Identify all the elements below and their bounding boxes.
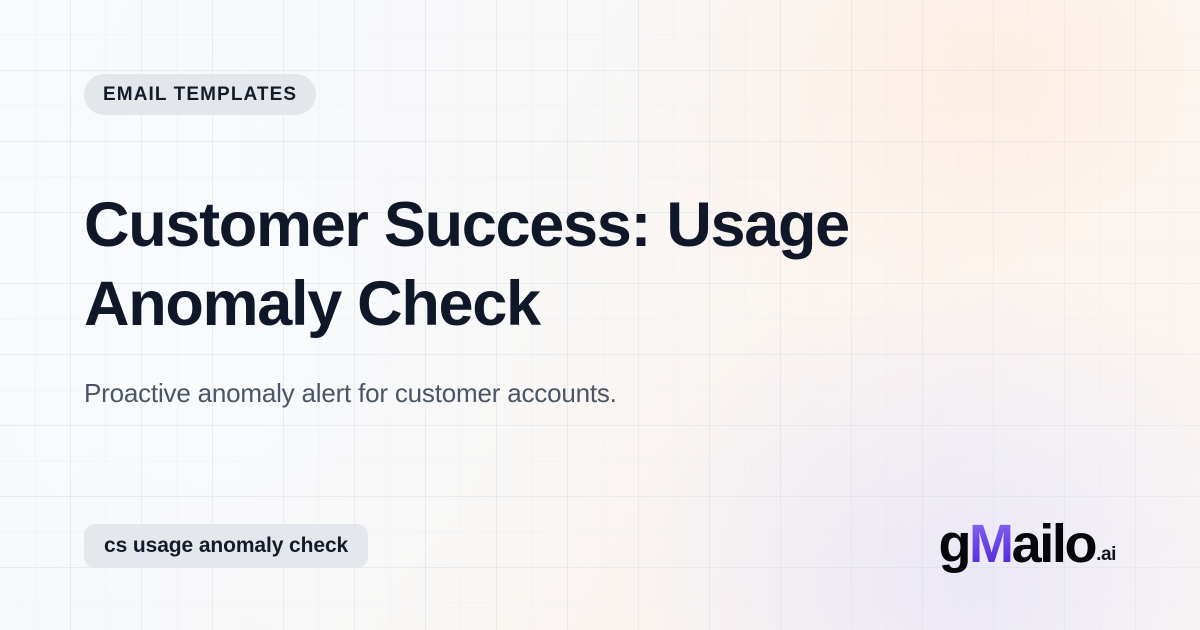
brand-logo-letters-ailo: ailo — [1012, 517, 1095, 571]
card-content: EMAIL TEMPLATES Customer Success: Usage … — [0, 0, 1200, 630]
brand-logo-tld: .ai — [1096, 545, 1116, 564]
category-badge: EMAIL TEMPLATES — [84, 74, 316, 115]
page-title: Customer Success: Usage Anomaly Check — [84, 186, 1094, 344]
brand-logo: g M ailo .ai — [938, 517, 1116, 571]
og-card: EMAIL TEMPLATES Customer Success: Usage … — [0, 0, 1200, 630]
template-slug-badge: cs usage anomaly check — [84, 524, 368, 568]
template-slug-label: cs usage anomaly check — [104, 534, 348, 558]
brand-logo-letter-m-accent: M — [969, 517, 1012, 571]
category-badge-label: EMAIL TEMPLATES — [103, 84, 297, 106]
page-subtitle: Proactive anomaly alert for customer acc… — [84, 375, 984, 411]
brand-logo-letter-g: g — [938, 517, 969, 571]
brand-logo-wordmark: g M ailo .ai — [938, 517, 1116, 571]
